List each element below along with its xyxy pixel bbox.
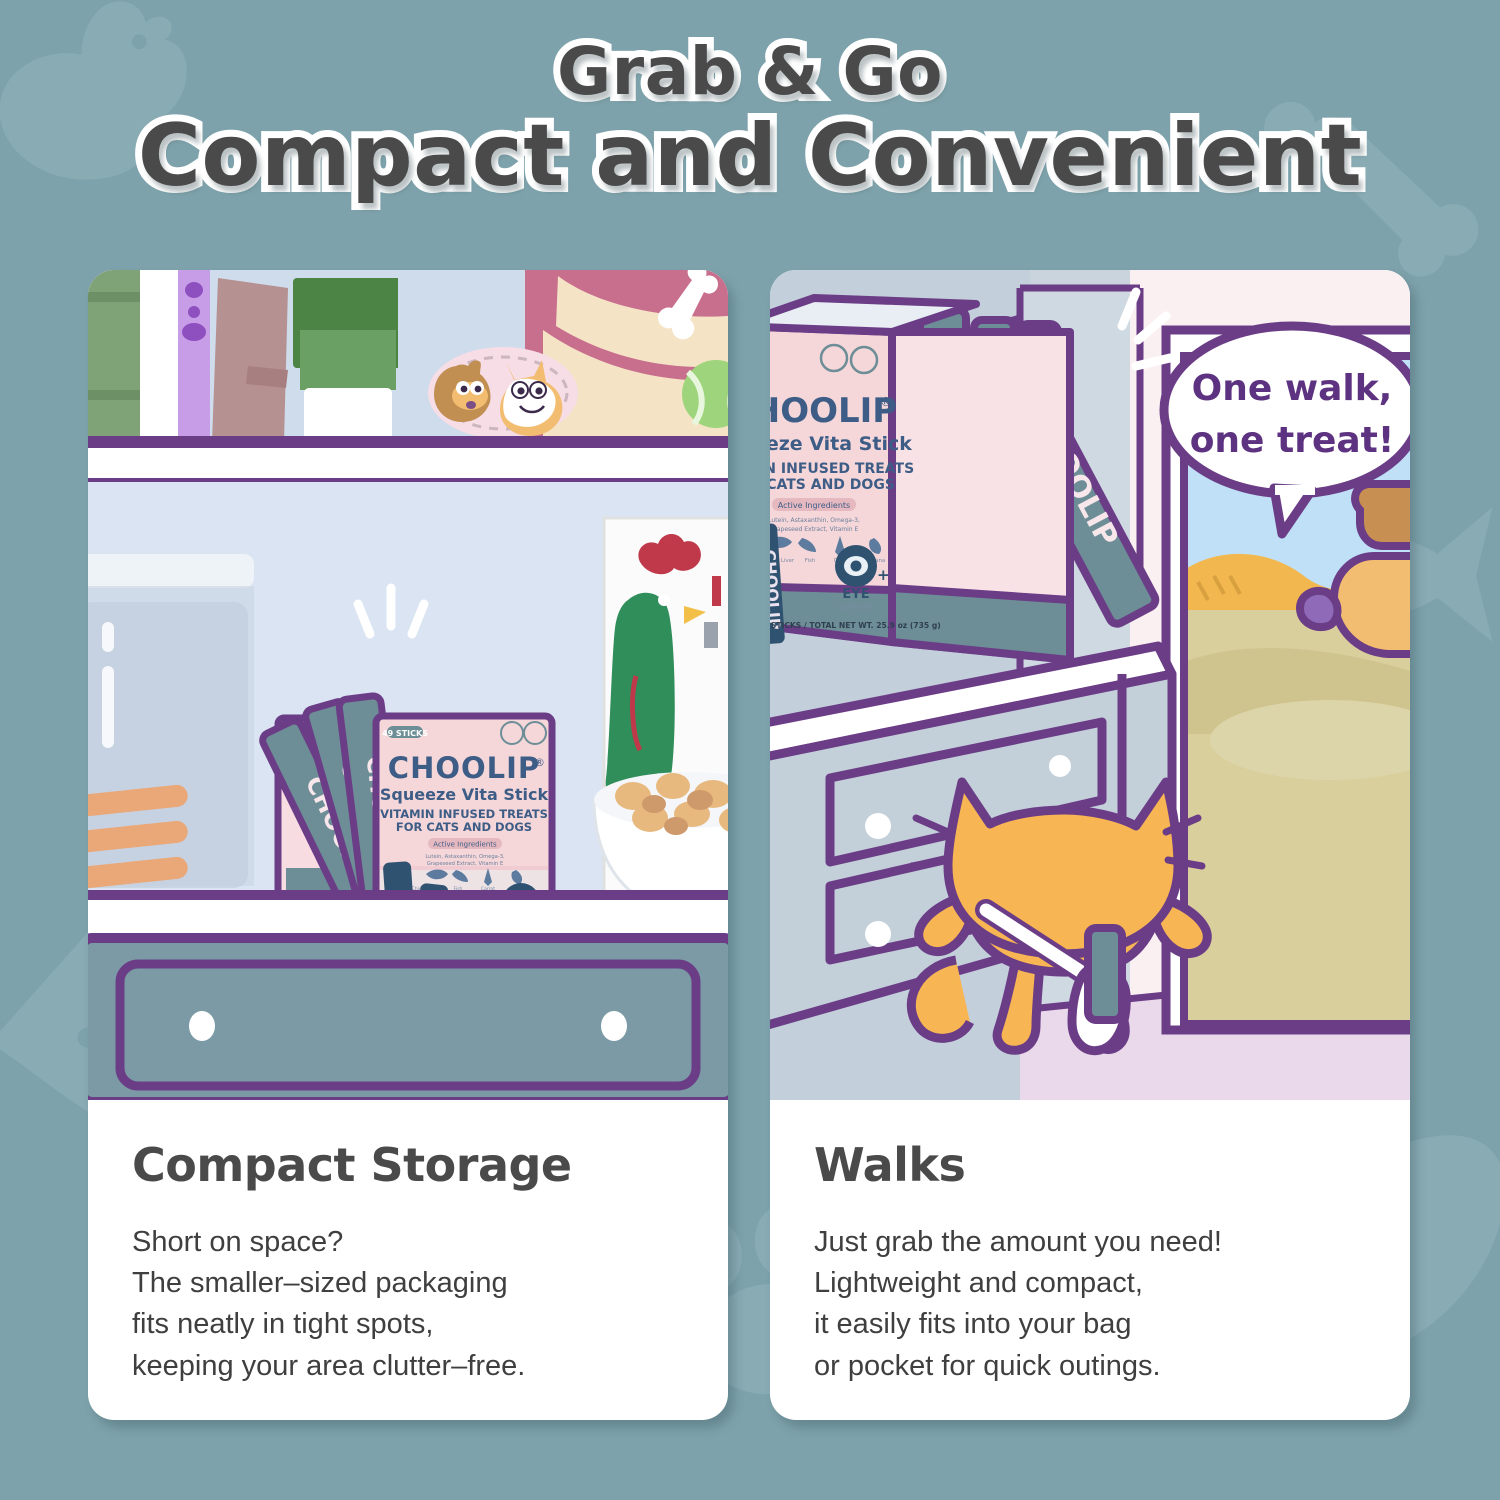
svg-text:VITAMIN INFUSED TREATS: VITAMIN INFUSED TREATS: [770, 461, 914, 477]
speech-line-1: One walk,: [1192, 368, 1393, 409]
illustration-refrigerator-shelf: CHOOLIP CHOOLIP CHOOLIP: [88, 270, 728, 1100]
card-title-walks: Walks: [814, 1138, 1368, 1192]
svg-text:CHOOLIP: CHOOLIP: [770, 391, 897, 431]
svg-text:Lutein, Astaxanthin, Omega-3,: Lutein, Astaxanthin, Omega-3,: [425, 854, 505, 860]
page-title: Grab & Go Compact and Convenient: [0, 38, 1500, 201]
feature-card-walks[interactable]: One walk, one treat!: [770, 270, 1410, 1420]
pet-bed-with-dog-and-cat-icon: [428, 347, 578, 439]
glass-jar-icon: [88, 554, 254, 890]
svg-text:®: ®: [534, 756, 545, 769]
svg-text:Squeeze Vita Stick: Squeeze Vita Stick: [770, 433, 912, 455]
top-shelf-contents: [88, 270, 728, 442]
svg-text:Active Ingredients: Active Ingredients: [778, 501, 850, 510]
svg-text:Lutein, Astaxanthin, Omega-3,: Lutein, Astaxanthin, Omega-3,: [770, 517, 860, 524]
title-line-2: Compact and Convenient: [0, 112, 1500, 201]
svg-text:Fish: Fish: [805, 558, 815, 564]
svg-text:®: ®: [880, 395, 892, 409]
refrigerator-scene-svg: CHOOLIP CHOOLIP CHOOLIP: [88, 270, 728, 1100]
svg-text:VITAMIN INFUSED TREATS: VITAMIN INFUSED TREATS: [380, 807, 548, 821]
svg-text:FOR CATS AND DOGS: FOR CATS AND DOGS: [396, 820, 532, 834]
feature-card-compact-storage[interactable]: CHOOLIP CHOOLIP CHOOLIP: [88, 270, 728, 1420]
svg-text:Grapeseed Extract, Vitamin E: Grapeseed Extract, Vitamin E: [770, 526, 858, 533]
svg-text:0.53 oz (15 g) X 49 STICKS / T: 0.53 oz (15 g) X 49 STICKS / TOTAL NET W…: [770, 621, 941, 630]
card-title-compact-storage: Compact Storage: [132, 1138, 686, 1192]
card-text-walks: Just grab the amount you need! Lightweig…: [814, 1222, 1368, 1387]
svg-text:Active Ingredients: Active Ingredients: [433, 841, 497, 849]
card-text-compact-storage: Short on space? The smaller–sized packag…: [132, 1222, 686, 1387]
speech-line-2: one treat!: [1190, 420, 1395, 461]
svg-text:SUPPORT: SUPPORT: [839, 603, 874, 612]
svg-text:Grapeseed Extract, Vitamin E: Grapeseed Extract, Vitamin E: [427, 861, 504, 867]
svg-text:Squeeze Vita Stick: Squeeze Vita Stick: [380, 785, 549, 804]
walks-scene-svg: One walk, one treat!: [770, 270, 1410, 1100]
svg-text:EYE: EYE: [842, 587, 869, 602]
svg-text:+: +: [877, 566, 890, 584]
illustration-hallway-console: One walk, one treat!: [770, 270, 1410, 1100]
fridge-bottom-drawer-icon: [88, 932, 728, 1100]
svg-text:49 STICKS: 49 STICKS: [382, 729, 428, 738]
svg-text:FOR CATS AND DOGS: FOR CATS AND DOGS: [770, 477, 895, 493]
svg-text:CHOOLIP: CHOOLIP: [388, 751, 540, 785]
title-line-1: Grab & Go: [0, 38, 1500, 106]
